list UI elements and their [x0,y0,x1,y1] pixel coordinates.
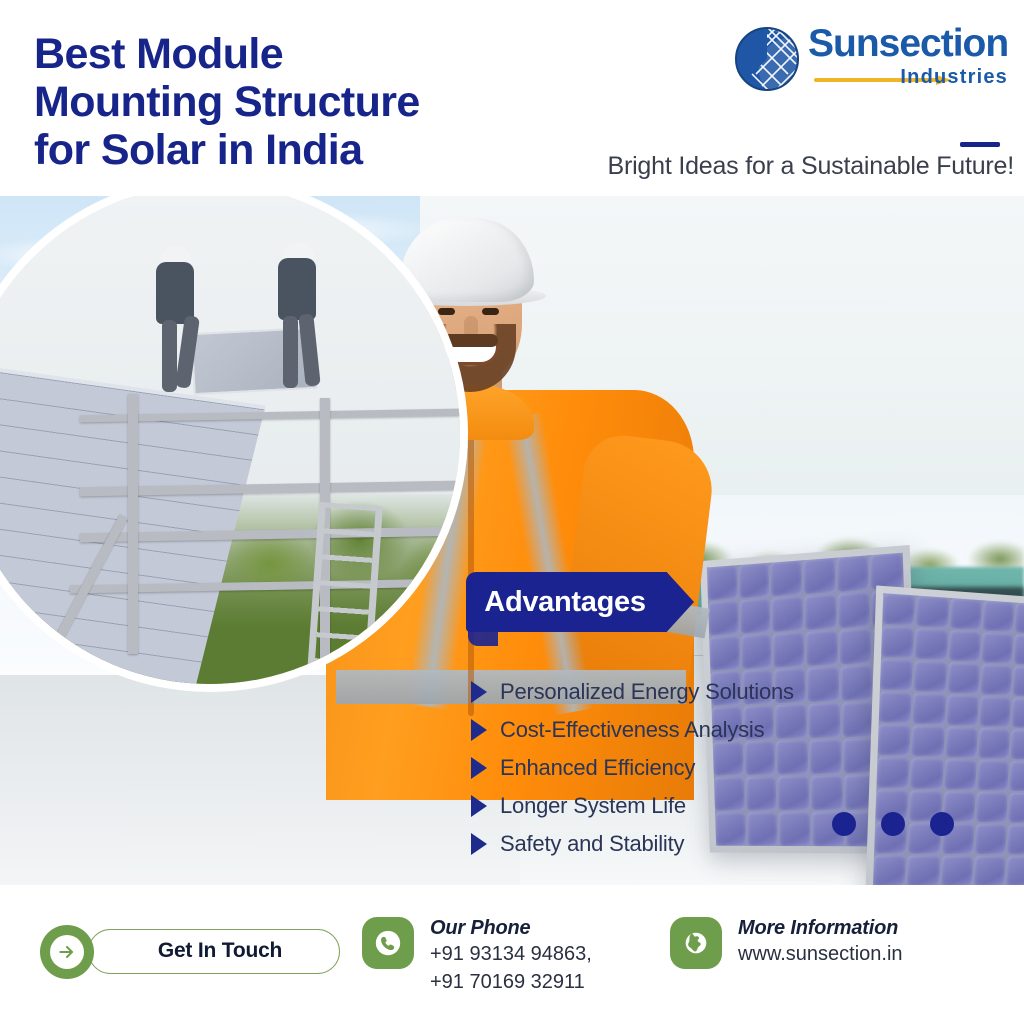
triangle-right-icon [471,681,487,703]
circular-installation-photo [0,184,460,684]
triangle-right-icon [471,833,487,855]
contact-phone-line-1: +91 93134 94863, [430,940,592,968]
page-title: Best Module Mounting Structure for Solar… [34,30,420,174]
advantages-title: Advantages [466,572,664,632]
banner-tail [468,630,498,646]
poster-canvas: Advantages Personalized Energy Solutions… [0,0,1024,1024]
phone-icon [362,917,414,969]
contact-phone[interactable]: Our Phone +91 93134 94863, +91 70169 329… [362,917,592,996]
tagline: Bright Ideas for a Sustainable Future! [607,152,1014,181]
solar-globe-icon [734,26,800,92]
decorative-dots [832,812,954,836]
dot-icon [930,812,954,836]
arrow-right-circle-icon[interactable] [40,925,94,979]
contact-website-title: More Information [738,917,903,940]
list-item[interactable]: Personalized Energy Solutions [466,673,886,711]
get-in-touch-button[interactable]: Get In Touch [40,925,340,977]
list-item-label: Enhanced Efficiency [500,755,695,781]
list-item-label: Cost-Effectiveness Analysis [500,717,764,743]
advantages-list: Personalized Energy Solutions Cost-Effec… [466,673,886,863]
dot-icon [832,812,856,836]
solar-panel-right [865,585,1024,885]
footer: Get In Touch Our Phone +91 93134 94863, … [0,885,1024,1024]
header: Best Module Mounting Structure for Solar… [0,0,1024,196]
globe-icon [670,917,722,969]
arrow-right-icon [57,942,77,962]
contact-phone-line-2: +91 70169 32911 [430,968,592,996]
list-item-label: Longer System Life [500,793,686,819]
advantages-banner: Advantages [466,572,694,632]
list-item[interactable]: Enhanced Efficiency [466,749,886,787]
panel-being-installed [190,327,317,395]
list-item-label: Safety and Stability [500,831,684,857]
brand-name: Sunsection [808,22,1008,66]
triangle-right-icon [471,795,487,817]
contact-website[interactable]: More Information www.sunsection.in [670,917,903,969]
ladder [305,502,383,684]
cta-label: Get In Touch [120,939,320,963]
list-item[interactable]: Safety and Stability [466,825,886,863]
triangle-right-icon [471,757,487,779]
list-item-label: Personalized Energy Solutions [500,679,794,705]
list-item[interactable]: Longer System Life [466,787,886,825]
triangle-right-icon [471,719,487,741]
dot-icon [881,812,905,836]
tagline-underline [960,142,1000,147]
contact-phone-title: Our Phone [430,917,592,940]
brand-logo[interactable]: Sunsection Industries [728,20,1010,98]
brand-subtitle: Industries [900,66,1008,89]
list-item[interactable]: Cost-Effectiveness Analysis [466,711,886,749]
contact-website-url: www.sunsection.in [738,940,903,968]
